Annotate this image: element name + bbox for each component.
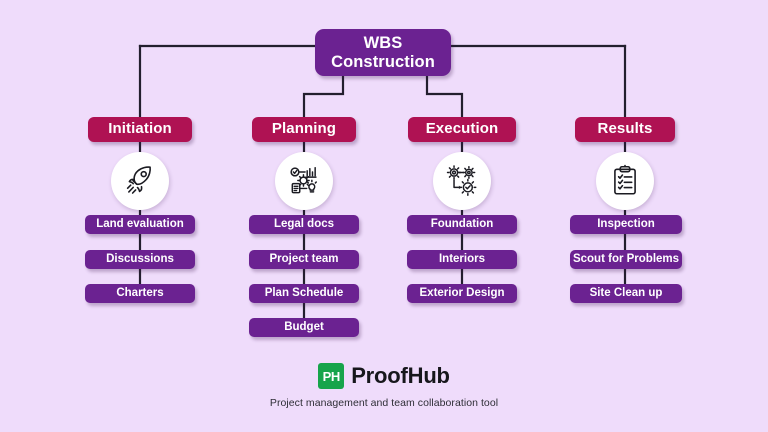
phase-label-planning: Planning: [272, 121, 336, 138]
leaf-node-site-clean-up[interactable]: Site Clean up: [570, 284, 682, 303]
icon-circle-initiation: [111, 152, 169, 210]
leaf-node-scout-for-problems[interactable]: Scout for Problems: [570, 250, 682, 269]
proofhub-logo-icon: PH: [318, 363, 344, 389]
logo-mark-text: PH: [323, 369, 340, 384]
leaf-node-inspection[interactable]: Inspection: [570, 215, 682, 234]
leaf-node-interiors[interactable]: Interiors: [407, 250, 517, 269]
phase-node-initiation[interactable]: Initiation: [88, 117, 192, 142]
leaf-node-budget[interactable]: Budget: [249, 318, 359, 337]
leaf-label: Exterior Design: [420, 287, 505, 300]
phase-node-planning[interactable]: Planning: [252, 117, 356, 142]
leaf-node-discussions[interactable]: Discussions: [85, 250, 195, 269]
root-label-line1: WBS: [364, 34, 403, 52]
leaf-node-foundation[interactable]: Foundation: [407, 215, 517, 234]
leaf-label: Foundation: [431, 218, 494, 231]
brand-name: ProofHub: [351, 363, 450, 389]
leaf-label: Project team: [269, 253, 338, 266]
leaf-label: Budget: [284, 321, 324, 334]
leaf-label: Interiors: [439, 253, 485, 266]
leaf-label: Discussions: [106, 253, 174, 266]
leaf-node-legal-docs[interactable]: Legal docs: [249, 215, 359, 234]
leaf-node-exterior-design[interactable]: Exterior Design: [407, 284, 517, 303]
brand-row: PH ProofHub: [0, 363, 768, 389]
leaf-label: Site Clean up: [590, 287, 663, 300]
icon-circle-planning: [275, 152, 333, 210]
icon-circle-results: [596, 152, 654, 210]
phase-label-initiation: Initiation: [108, 121, 172, 138]
root-node-wbs-construction[interactable]: WBS Construction: [315, 29, 451, 76]
phase-node-results[interactable]: Results: [575, 117, 675, 142]
leaf-node-land-evaluation[interactable]: Land evaluation: [85, 215, 195, 234]
leaf-node-charters[interactable]: Charters: [85, 284, 195, 303]
root-label-line2: Construction: [331, 53, 435, 71]
phase-label-results: Results: [598, 121, 653, 138]
root-node-label: WBS Construction: [331, 34, 435, 71]
wbs-diagram-canvas: WBS Construction Initiation: [0, 0, 768, 432]
leaf-node-plan-schedule[interactable]: Plan Schedule: [249, 284, 359, 303]
phase-label-execution: Execution: [426, 121, 499, 138]
leaf-label: Legal docs: [274, 218, 334, 231]
rocket-icon: [123, 164, 157, 198]
brand-tagline: Project management and team collaboratio…: [0, 397, 768, 409]
phase-node-execution[interactable]: Execution: [408, 117, 516, 142]
leaf-label: Scout for Problems: [573, 253, 679, 266]
icon-circle-execution: [433, 152, 491, 210]
planning-workflow-icon: [287, 164, 321, 198]
clipboard-checklist-icon: [608, 164, 642, 198]
leaf-label: Inspection: [597, 218, 655, 231]
gears-process-icon: [445, 164, 479, 198]
leaf-label: Land evaluation: [96, 218, 184, 231]
footer-branding: PH ProofHub Project management and team …: [0, 363, 768, 409]
leaf-label: Charters: [116, 287, 163, 300]
leaf-node-project-team[interactable]: Project team: [249, 250, 359, 269]
leaf-label: Plan Schedule: [265, 287, 344, 300]
